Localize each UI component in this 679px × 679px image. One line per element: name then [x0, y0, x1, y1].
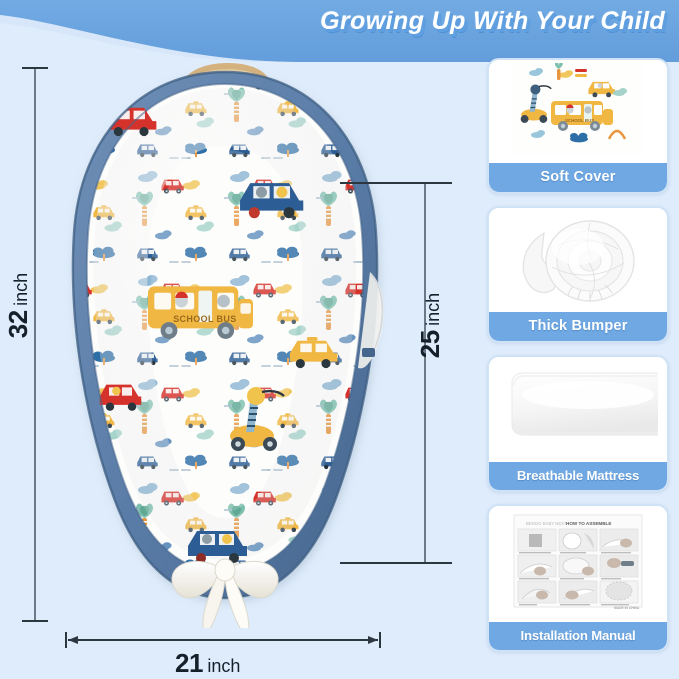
dimension-line-height-left	[34, 68, 36, 622]
feature-card-installation-manual[interactable]: BENGO BABY NEST: HOW TO ASSEMBLE	[487, 504, 669, 652]
dimension-cap-bottom-left	[22, 620, 48, 622]
feature-label-soft-cover: Soft Cover	[489, 163, 667, 192]
soft-cover-image: SCHOOL BUS	[489, 60, 667, 158]
dimension-line-height-right	[424, 183, 426, 563]
feature-label-thick-bumper: Thick Bumper	[489, 312, 667, 341]
feature-label-breathable-mattress: Breathable Mattress	[489, 462, 667, 490]
dimension-leader-top-right	[340, 182, 452, 184]
flat-mattress-icon	[498, 365, 658, 449]
svg-text:BENGO BABY NEST:: BENGO BABY NEST:	[526, 521, 567, 526]
thick-bumper-image	[489, 208, 667, 307]
dimension-value: 25	[415, 330, 445, 358]
printed-fabric-swatch-icon: SCHOOL BUS	[513, 63, 643, 155]
installation-manual-image: BENGO BABY NEST: HOW TO ASSEMBLE	[489, 506, 667, 616]
infographic-canvas: Growing Up With Your Child	[0, 0, 679, 679]
feature-card-soft-cover[interactable]: SCHOOL BUS	[487, 58, 669, 194]
dimension-cap-top-left	[22, 67, 48, 69]
feature-card-thick-bumper[interactable]: Thick Bumper	[487, 206, 669, 343]
dimension-unit: inch	[423, 293, 443, 326]
product-image: SCHOOL BUS	[40, 58, 410, 628]
dimension-label-21-inch: 21 inch	[175, 648, 240, 679]
svg-text:SCHOOL BUS: SCHOOL BUS	[565, 118, 594, 123]
dimension-value: 32	[3, 310, 33, 338]
feature-panel-list: SCHOOL BUS	[487, 58, 667, 670]
dimension-unit: inch	[11, 273, 31, 306]
dimension-leader-bottom-right	[340, 562, 452, 564]
feature-label-installation-manual: Installation Manual	[489, 622, 667, 650]
baby-nest-illustration: SCHOOL BUS	[40, 58, 410, 628]
feature-card-breathable-mattress[interactable]: Breathable Mattress	[487, 355, 669, 492]
svg-text:MADE IN CHINA: MADE IN CHINA	[614, 606, 640, 610]
dimension-line-width-bottom	[58, 630, 388, 650]
dimension-unit: inch	[207, 656, 240, 676]
assembly-instruction-sheet-icon: BENGO BABY NEST: HOW TO ASSEMBLE	[510, 511, 646, 611]
dimension-value: 21	[175, 648, 203, 678]
header-banner: Growing Up With Your Child	[0, 0, 679, 62]
coiled-bumper-icon	[508, 211, 648, 305]
breathable-mattress-image	[489, 357, 667, 456]
dimension-label-32-inch: 32 inch	[3, 273, 34, 338]
dimension-label-25-inch: 25 inch	[415, 293, 446, 358]
page-title: Growing Up With Your Child	[320, 7, 665, 36]
svg-text:HOW TO ASSEMBLE: HOW TO ASSEMBLE	[566, 521, 611, 526]
